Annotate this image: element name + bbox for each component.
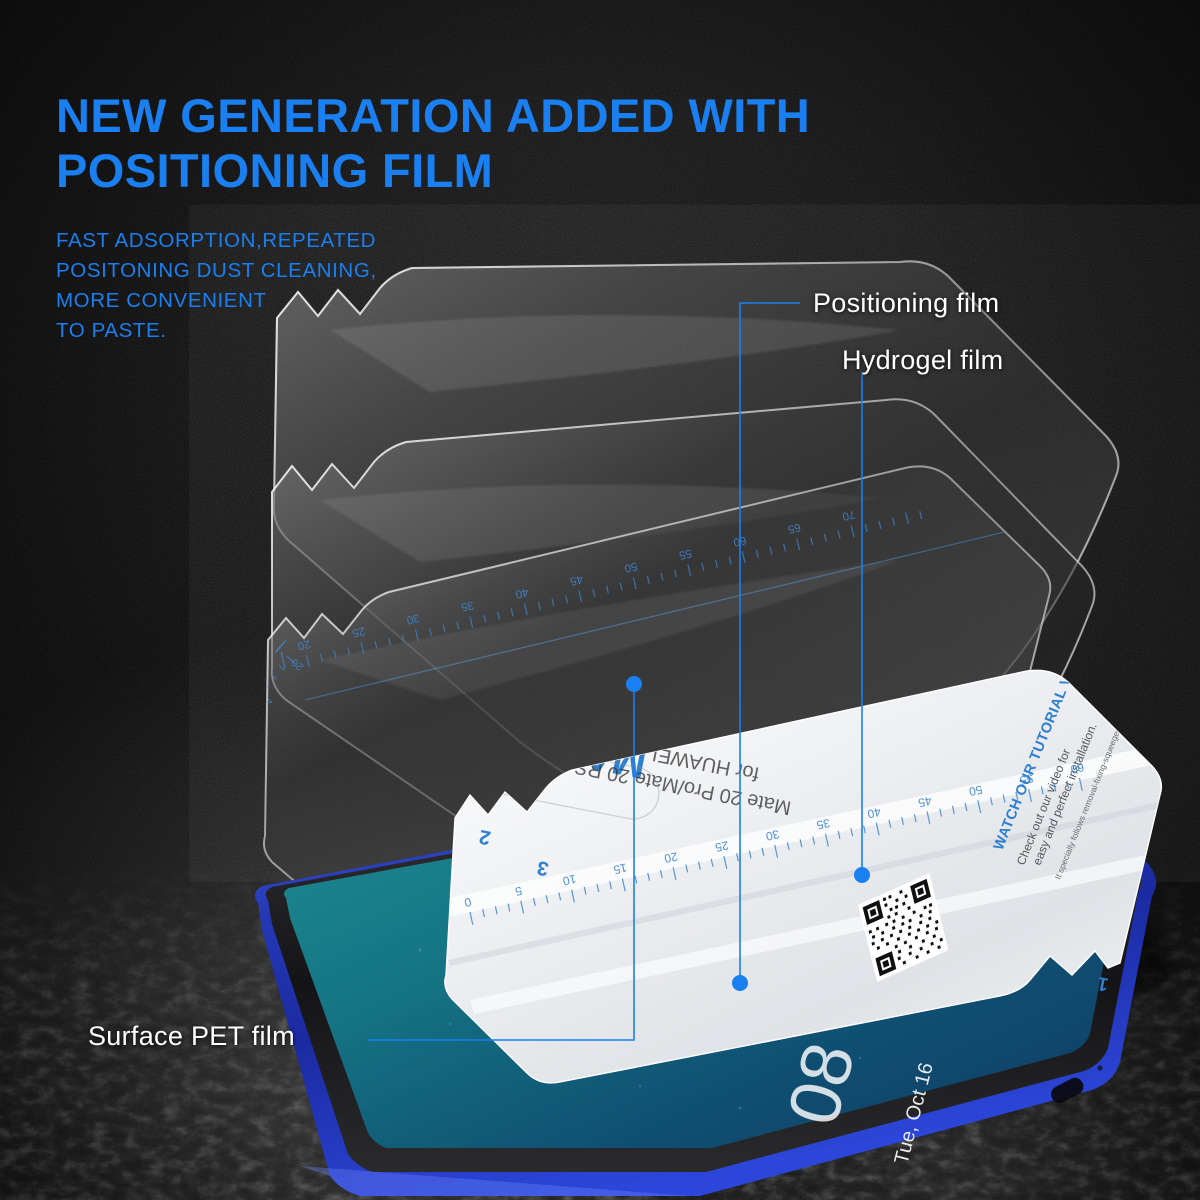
callout-labels: Positioning film Hydrogel film Surface P… bbox=[0, 0, 1200, 1200]
callout-label-positioning-film: Positioning film bbox=[813, 288, 999, 319]
product-banner: 20 25 30 35 40 45 50 55 60 65 70 bbox=[0, 0, 1200, 1200]
callout-label-hydrogel-film: Hydrogel film bbox=[842, 345, 1003, 376]
callout-label-surface-pet-film: Surface PET film bbox=[88, 1021, 295, 1052]
